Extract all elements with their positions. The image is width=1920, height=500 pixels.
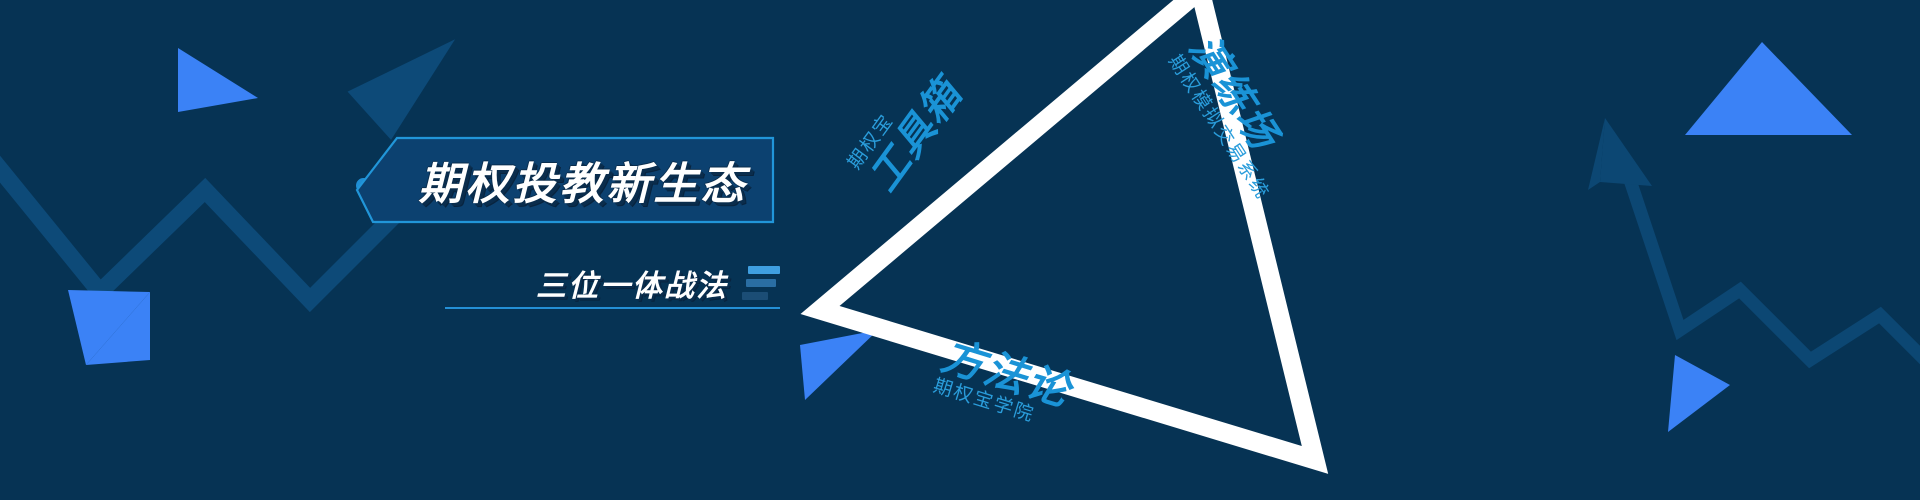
triangle-diagram: 期权宝 工具箱 演练场 期权模拟交易系统 方法论 期权宝学院 — [760, 0, 1400, 500]
triangle-outline — [760, 0, 1400, 500]
promo-banner: 期权投教新生态 三位一体战法 期权宝 工具箱 演练场 期权模拟交易系统 — [0, 0, 1920, 500]
page-title: 期权投教新生态 — [355, 135, 775, 225]
title-badge: 期权投教新生态 — [355, 135, 775, 225]
subtitle-row: 三位一体战法 — [445, 258, 780, 308]
subtitle-divider — [445, 307, 780, 309]
subtitle-text: 三位一体战法 — [536, 261, 728, 305]
